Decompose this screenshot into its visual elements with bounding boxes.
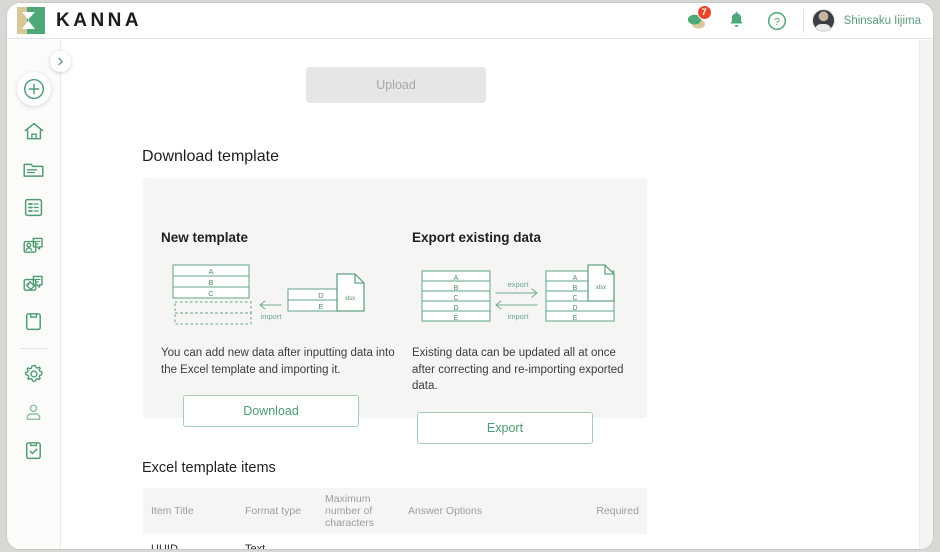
cell-item-title: UUID	[143, 543, 245, 550]
user-avatar[interactable]	[812, 9, 835, 32]
svg-text:import: import	[508, 312, 530, 321]
panel-description: Existing data can be updated all at once…	[412, 345, 642, 395]
clipboard-icon	[24, 311, 43, 332]
svg-text:C: C	[208, 289, 214, 298]
sidebar-item-folder[interactable]	[16, 150, 52, 188]
main-content: Upload Download template New template	[62, 40, 934, 550]
chevron-right-icon	[56, 57, 65, 66]
user-name[interactable]: Shinsaku Iijima	[844, 15, 921, 27]
excel-items-heading: Excel template items	[142, 460, 276, 476]
header-actions: 7 ? Shinsaku Iijima	[677, 3, 934, 39]
app-header: KANNA 7	[7, 3, 934, 39]
document-list-icon	[23, 197, 44, 218]
download-template-heading: Download template	[142, 148, 279, 166]
chat-badge: 7	[697, 5, 712, 20]
svg-text:E: E	[318, 302, 323, 311]
svg-text:A: A	[454, 275, 459, 282]
svg-text:import: import	[261, 312, 283, 321]
vertical-scrollbar[interactable]	[919, 40, 934, 550]
column-header-format-type: Format type	[245, 505, 325, 517]
sidebar-divider	[20, 348, 48, 349]
gear-icon	[23, 363, 45, 385]
svg-text:A: A	[208, 267, 213, 276]
panel-export-existing: Export existing data	[412, 178, 642, 444]
panel-description: You can add new data after inputting dat…	[161, 345, 401, 378]
svg-text:C: C	[572, 295, 577, 302]
person-icon	[23, 402, 44, 423]
svg-text:D: D	[318, 291, 324, 300]
table-body: UUID Text	[143, 534, 647, 550]
sidebar-item-reports[interactable]	[16, 188, 52, 226]
excel-template-items-table: Item Title Format type Maximum number of…	[143, 488, 647, 550]
panel-new-template: New template	[161, 178, 401, 427]
sidebar-collapse-toggle[interactable]	[50, 51, 71, 72]
plus-circle-icon	[23, 78, 45, 100]
header-divider	[803, 9, 804, 33]
svg-text:D: D	[572, 305, 577, 312]
svg-text:C: C	[453, 295, 458, 302]
left-sidebar	[7, 40, 61, 550]
svg-text:B: B	[573, 285, 578, 292]
svg-text:E: E	[454, 315, 459, 322]
svg-text:D: D	[453, 305, 458, 312]
new-template-illustration: A B C D E xlsx import	[161, 259, 401, 337]
sidebar-item-assets[interactable]	[16, 264, 52, 302]
help-circle-icon[interactable]: ?	[757, 3, 797, 39]
clipboard-check-icon	[24, 440, 43, 461]
column-header-answer-options: Answer Options	[408, 505, 588, 517]
column-header-item-title: Item Title	[143, 505, 245, 517]
panel-title: Export existing data	[412, 230, 642, 245]
upload-button[interactable]: Upload	[306, 67, 486, 103]
download-template-card: New template	[143, 178, 647, 418]
sidebar-item-contacts[interactable]	[16, 226, 52, 264]
download-button[interactable]: Download	[183, 395, 359, 427]
export-data-illustration: A B C D E A B C D E xlsx export	[412, 259, 642, 337]
table-header-row: Item Title Format type Maximum number of…	[143, 488, 647, 534]
svg-text:xlsx: xlsx	[345, 296, 355, 302]
sidebar-item-add-button[interactable]	[17, 72, 51, 106]
svg-text:B: B	[208, 278, 213, 287]
svg-text:export: export	[508, 280, 530, 289]
sidebar-item-settings[interactable]	[16, 355, 52, 393]
export-button[interactable]: Export	[417, 412, 593, 444]
brand-logo[interactable]: KANNA	[7, 7, 142, 34]
svg-text:xlsx: xlsx	[596, 285, 606, 291]
person-card-icon	[22, 235, 45, 256]
sidebar-item-account[interactable]	[16, 393, 52, 431]
kanna-logo-icon	[17, 7, 45, 34]
svg-text:?: ?	[774, 16, 780, 28]
sidebar-item-board[interactable]	[16, 302, 52, 340]
panel-title: New template	[161, 230, 401, 245]
bell-icon[interactable]	[717, 3, 757, 39]
cell-format-type: Text	[245, 543, 325, 550]
svg-text:B: B	[454, 285, 459, 292]
chat-bubbles-icon[interactable]: 7	[677, 3, 717, 39]
sidebar-item-tasks[interactable]	[16, 431, 52, 469]
home-icon	[23, 121, 45, 142]
sidebar-item-home[interactable]	[16, 112, 52, 150]
column-header-max-characters: Maximum number of characters	[325, 493, 408, 529]
svg-text:A: A	[573, 275, 578, 282]
app-window: KANNA 7	[6, 2, 934, 550]
brand-name: KANNA	[56, 10, 142, 32]
tag-card-icon	[22, 273, 45, 294]
folder-icon	[22, 159, 45, 179]
table-row[interactable]: UUID Text	[143, 534, 647, 550]
column-header-required: Required	[588, 505, 639, 517]
svg-text:E: E	[573, 315, 578, 322]
